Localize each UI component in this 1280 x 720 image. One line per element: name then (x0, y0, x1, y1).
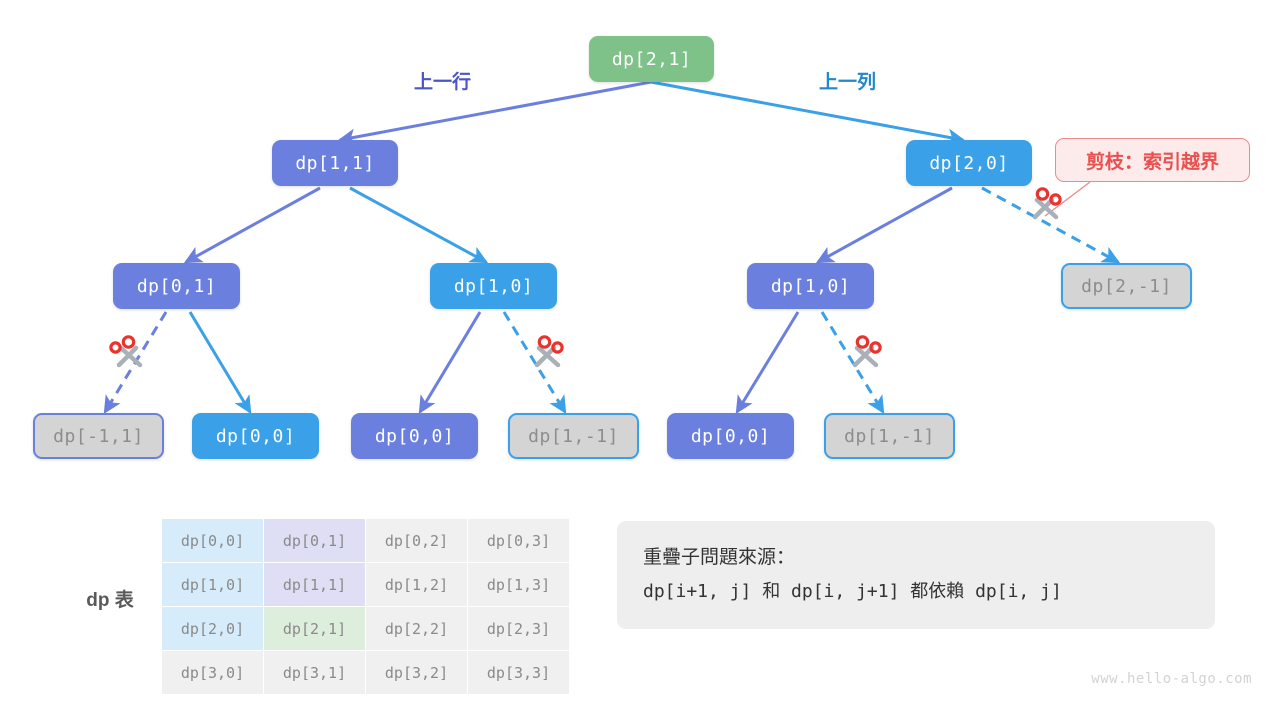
dp-cell-1-0[interactable]: dp[1,0] (162, 563, 264, 607)
scissors-icon-prune-2 (524, 331, 568, 375)
dp-table: dp[0,0] dp[0,1] dp[0,2] dp[0,3] dp[1,0] … (161, 518, 570, 695)
tree-node-dp-1-0-a[interactable]: dp[1,0] (430, 263, 557, 309)
prune-callout: 剪枝：索引越界 (1055, 138, 1250, 182)
dp-cell-0-0[interactable]: dp[0,0] (162, 519, 264, 563)
table-row: dp[0,0] dp[0,1] dp[0,2] dp[0,3] (162, 519, 570, 563)
tree-node-dp-1-0-b[interactable]: dp[1,0] (747, 263, 874, 309)
table-row: dp[2,0] dp[2,1] dp[2,2] dp[2,3] (162, 607, 570, 651)
dp-cell-2-0[interactable]: dp[2,0] (162, 607, 264, 651)
dp-cell-3-1[interactable]: dp[3,1] (264, 651, 366, 695)
dp-table-label: dp 表 (62, 585, 158, 612)
dp-cell-2-3[interactable]: dp[2,3] (468, 607, 570, 651)
note-line-1: 重疊子問題來源： (643, 543, 1189, 573)
dp-cell-3-2[interactable]: dp[3,2] (366, 651, 468, 695)
diagram-canvas: dp[2,1] 上一行 上一列 dp[1,1] dp[2,0] dp[0,1] … (0, 0, 1280, 720)
dp-cell-2-1[interactable]: dp[2,1] (264, 607, 366, 651)
dp-cell-2-2[interactable]: dp[2,2] (366, 607, 468, 651)
tree-node-dp-0-1[interactable]: dp[0,1] (113, 263, 240, 309)
scissors-icon-prune-1 (106, 331, 150, 375)
note-line-2: dp[i+1, j] 和 dp[i, j+1] 都依賴 dp[i, j] (643, 577, 1189, 607)
dp-cell-3-0[interactable]: dp[3,0] (162, 651, 264, 695)
dp-cell-1-2[interactable]: dp[1,2] (366, 563, 468, 607)
overlapping-subproblem-note: 重疊子問題來源： dp[i+1, j] 和 dp[i, j+1] 都依賴 dp[… (617, 521, 1215, 629)
tree-node-root[interactable]: dp[2,1] (589, 36, 714, 82)
scissors-icon-prune-3 (842, 331, 886, 375)
tree-node-dp-0-0-b[interactable]: dp[0,0] (351, 413, 478, 459)
dp-cell-1-3[interactable]: dp[1,3] (468, 563, 570, 607)
dp-cell-3-3[interactable]: dp[3,3] (468, 651, 570, 695)
edge-label-prev-row: 上一行 (414, 67, 471, 94)
scissors-icon-prune-4 (1022, 183, 1066, 227)
tree-node-dp-0-0-c[interactable]: dp[0,0] (667, 413, 794, 459)
tree-node-dp-1-minus1-b[interactable]: dp[1,-1] (824, 413, 955, 459)
tree-node-dp-minus1-1[interactable]: dp[-1,1] (33, 413, 164, 459)
dp-cell-0-3[interactable]: dp[0,3] (468, 519, 570, 563)
table-row: dp[3,0] dp[3,1] dp[3,2] dp[3,3] (162, 651, 570, 695)
dp-cell-0-1[interactable]: dp[0,1] (264, 519, 366, 563)
tree-node-dp-1-1[interactable]: dp[1,1] (272, 140, 398, 186)
watermark: www.hello-algo.com (1091, 671, 1252, 687)
tree-node-dp-2-0[interactable]: dp[2,0] (906, 140, 1032, 186)
dp-cell-1-1[interactable]: dp[1,1] (264, 563, 366, 607)
tree-node-dp-0-0-a[interactable]: dp[0,0] (192, 413, 319, 459)
tree-node-dp-1-minus1-a[interactable]: dp[1,-1] (508, 413, 639, 459)
dp-cell-0-2[interactable]: dp[0,2] (366, 519, 468, 563)
edge-label-prev-col: 上一列 (819, 67, 876, 94)
table-row: dp[1,0] dp[1,1] dp[1,2] dp[1,3] (162, 563, 570, 607)
tree-node-dp-2-minus1[interactable]: dp[2,-1] (1061, 263, 1192, 309)
